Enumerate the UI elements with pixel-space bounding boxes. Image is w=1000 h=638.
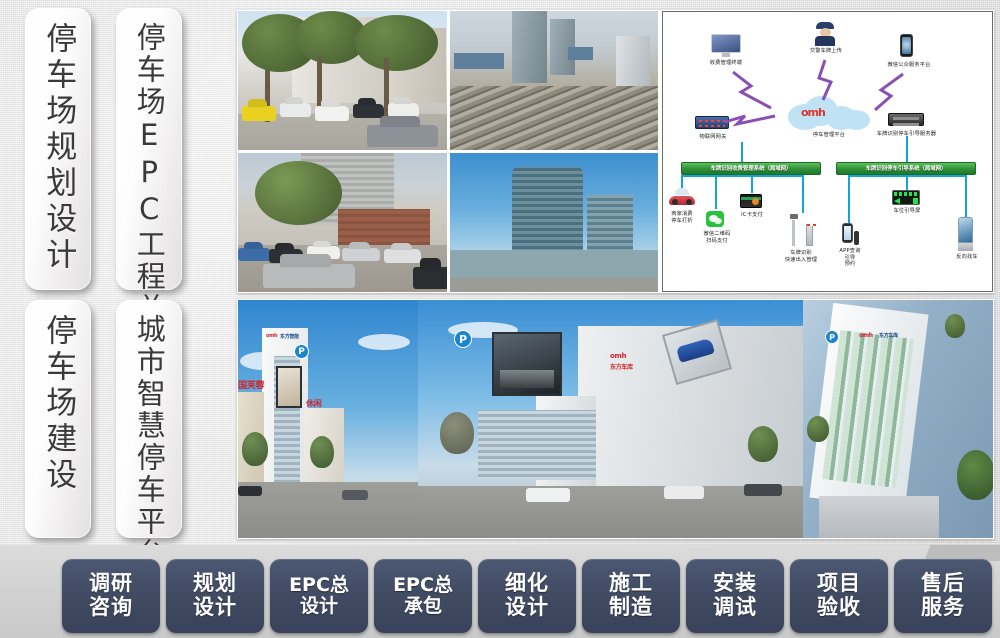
photo-surface-lot-trees — [238, 11, 447, 150]
car-shape — [263, 264, 355, 288]
wire-drop — [965, 175, 967, 217]
wire-drop — [802, 175, 804, 213]
car-shape — [676, 338, 715, 363]
lpr-gate-label: 车牌识别 快速出入管理 — [771, 250, 831, 263]
wechat-qr-icon — [706, 211, 724, 227]
street-shape — [450, 278, 659, 292]
tree-shape — [957, 450, 993, 500]
brand-name-text: 东方车库 — [879, 332, 898, 339]
process-step-construction-manufacturing[interactable]: 施工 制造 — [582, 559, 680, 633]
process-step-research-consulting[interactable]: 调研 咨询 — [62, 559, 160, 633]
billboard-cars — [500, 370, 554, 388]
step-line-2: 服务 — [921, 596, 965, 620]
step-line-1: 售后 — [921, 572, 965, 596]
step-line-1: 施工 — [609, 572, 653, 596]
parking-badge: P — [454, 330, 472, 348]
photo-collage — [238, 11, 658, 292]
render-tower-garage-street: omh 东方智能 P 国芙蓉 休闲 — [238, 300, 418, 538]
step-line-2: 咨询 — [89, 596, 133, 620]
car-shape — [664, 486, 704, 499]
car-shape — [388, 103, 419, 117]
step-line-1: 调研 — [89, 572, 133, 596]
car-shape — [280, 103, 311, 117]
wechat-qr-label: 微信二维码 扫码支付 — [691, 231, 743, 244]
service-card-smart-platform[interactable]: 城市智慧停车平台建设 — [116, 300, 182, 538]
ic-card-icon — [740, 194, 762, 208]
process-step-planning-design[interactable]: 规划 设计 — [166, 559, 264, 633]
tree-shape — [242, 432, 268, 466]
tree-shape — [807, 416, 829, 442]
wire-drop — [848, 175, 850, 223]
guide-screen-icon — [892, 190, 920, 205]
roof-shape — [454, 53, 504, 70]
cloud-shape — [358, 334, 410, 350]
process-step-epc-design[interactable]: EPC总 设计 — [270, 559, 368, 633]
render-podium-garage: omh 东方车库 P — [418, 300, 803, 538]
service-card-label: 停车场建设 — [42, 300, 75, 494]
roof-shape — [568, 47, 593, 60]
step-line-1: 规划 — [193, 572, 237, 596]
car-shape — [384, 249, 422, 263]
app-booking-icon — [842, 223, 855, 245]
billboard — [492, 332, 562, 396]
photo-glass-tower — [450, 153, 659, 292]
photo-brick-building-lot — [238, 153, 447, 292]
step-line-1: 项目 — [817, 572, 861, 596]
tree-shape — [440, 412, 474, 454]
process-step-after-sales-service[interactable]: 售后 服务 — [894, 559, 992, 633]
parking-badge: P — [294, 344, 309, 359]
service-card-label: 停车场规划设计 — [42, 8, 75, 274]
lpr-gate-icon — [790, 214, 814, 246]
poster-stage: 停车场规划设计 停车场EPC工程总承包 停车场建设 城市智慧停车平台建设 — [0, 0, 1000, 638]
tower-shape — [512, 11, 547, 83]
step-line-1: EPC总 — [289, 575, 349, 596]
render-aerial-tower-garage: P omh 东方车库 — [803, 300, 993, 538]
car-shape — [342, 490, 368, 500]
wire-trunk-left — [741, 142, 743, 162]
ground-shape — [238, 482, 418, 538]
step-line-1: 细化 — [505, 572, 549, 596]
step-line-2: 设计 — [300, 596, 338, 617]
step-line-2: 承包 — [404, 596, 442, 617]
merchant-discount-label: 商家消费 停车打折 — [656, 211, 708, 224]
step-line-1: 安装 — [713, 572, 757, 596]
car-shape — [242, 106, 275, 121]
car-shape — [342, 248, 380, 262]
parking-badge: P — [825, 330, 839, 344]
sign-text: 国芙蓉 — [238, 378, 264, 391]
glass-facade-shape — [478, 410, 596, 480]
find-car-label: 反向找车 — [944, 254, 990, 261]
process-step-project-acceptance[interactable]: 项目 验收 — [790, 559, 888, 633]
brand-name-text: 东方车库 — [610, 362, 633, 371]
car-shape — [413, 267, 446, 289]
wire-drop — [906, 175, 908, 191]
plaza-shape — [819, 496, 939, 538]
find-car-kiosk-icon — [958, 217, 973, 251]
tree-shape — [310, 436, 334, 468]
process-step-detailed-design[interactable]: 细化 设计 — [478, 559, 576, 633]
tree-canopy — [355, 15, 438, 71]
brand-logo-text: omh — [859, 332, 873, 339]
car-shape — [238, 486, 262, 496]
tree-canopy — [255, 161, 343, 225]
parking-lot-rows — [450, 86, 659, 150]
guide-screen-label: 车位引导屏 — [877, 208, 937, 215]
step-line-2: 验收 — [817, 596, 861, 620]
wire-drop — [715, 175, 717, 209]
car-shape — [367, 125, 438, 147]
tower-shape — [616, 36, 649, 86]
merchant-discount-icon — [669, 188, 695, 205]
process-step-installation-commissioning[interactable]: 安装 调试 — [686, 559, 784, 633]
guide-system-bar: 车牌识别停车引导系统（局域网） — [836, 162, 976, 175]
photo-aerial-parking — [450, 11, 659, 150]
service-card-epc-contracting[interactable]: 停车场EPC工程总承包 — [116, 8, 182, 290]
ic-card-label: IC卡支付 — [727, 212, 777, 219]
process-step-epc-contracting[interactable]: EPC总 承包 — [374, 559, 472, 633]
wire-bus-left — [681, 175, 803, 177]
car-shape — [315, 106, 348, 121]
step-line-1: EPC总 — [393, 575, 453, 596]
billboard — [276, 366, 302, 408]
podium-shape — [450, 250, 659, 278]
tree-shape — [945, 314, 965, 338]
toll-system-bar: 车牌识别收费管理系统（局域网） — [681, 162, 821, 175]
brand-logo-text: omh — [610, 352, 626, 360]
wire-drop — [751, 175, 753, 193]
tree-shape — [748, 426, 778, 462]
step-line-2: 调试 — [713, 596, 757, 620]
car-shape — [744, 484, 782, 496]
render-gallery: omh 东方智能 P 国芙蓉 休闲 omh 东方车库 P — [238, 300, 993, 538]
step-line-2: 制造 — [609, 596, 653, 620]
brand-logo-text: omh — [266, 333, 277, 339]
car-shape — [526, 488, 570, 502]
step-line-2: 设计 — [193, 596, 237, 620]
brand-name-text: 东方智能 — [280, 333, 299, 340]
step-line-2: 设计 — [505, 596, 549, 620]
wire-trunk-right — [906, 136, 908, 162]
wire-drop — [681, 175, 683, 189]
sign-text: 休闲 — [306, 398, 321, 409]
parking-system-diagram: omh 停车管理平台 收费管理终端 交警车牌上传 微信公众服务平台 物联网网关 … — [662, 11, 993, 292]
car-shape — [238, 248, 271, 262]
process-step-row: 调研 咨询 规划 设计 EPC总 设计 EPC总 承包 细化 设计 施工 制造 … — [62, 559, 992, 633]
service-card-construction[interactable]: 停车场建设 — [25, 300, 91, 538]
car-shape — [353, 104, 384, 118]
service-card-planning-design[interactable]: 停车场规划设计 — [25, 8, 91, 290]
app-booking-label: APP查询 引导 预约 — [826, 248, 874, 268]
